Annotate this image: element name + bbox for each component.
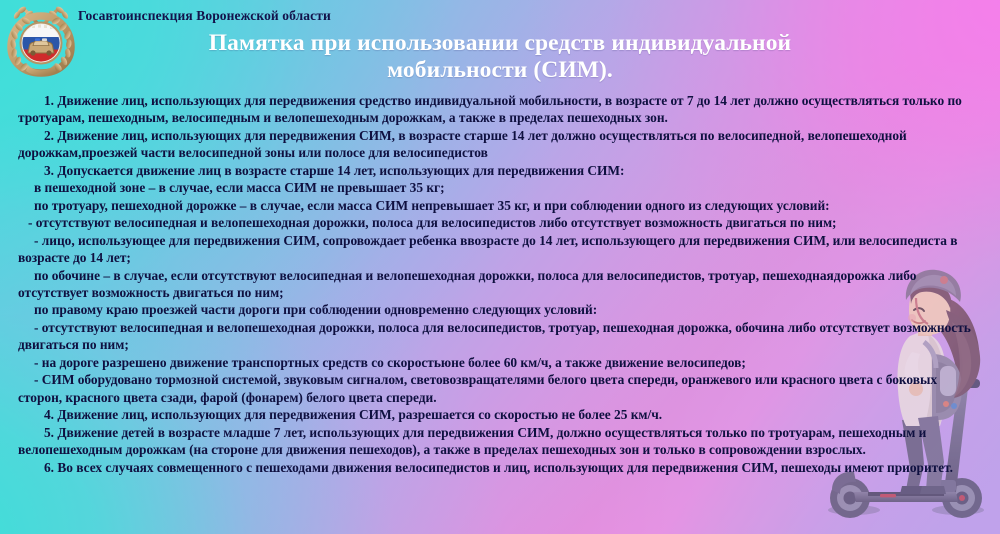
body-paragraph: 1. Движение лиц, использующих для передв…: [18, 92, 982, 127]
body-paragraph: - на дороге разрешено движение транспорт…: [18, 354, 982, 371]
body-paragraph: 2. Движение лиц, использующих для передв…: [18, 127, 982, 162]
body-paragraph: 6. Во всех случаях совмещенного с пешехо…: [18, 459, 982, 476]
body-paragraph: - лицо, использующее для передвижения СИ…: [18, 232, 982, 267]
poster-canvas: Госавтоинспекция Воронежской области Пам…: [0, 0, 1000, 534]
body-paragraph: - СИМ оборудовано тормозной системой, зв…: [18, 371, 982, 406]
body-paragraph: 4. Движение лиц, использующих для передв…: [18, 406, 982, 423]
body-paragraph: - отсутствуют велосипедная и велопешеход…: [18, 319, 982, 354]
body-paragraph: по тротуару, пешеходной дорожке – в случ…: [18, 197, 982, 214]
body-paragraph: по обочине – в случае, если отсутствуют …: [18, 267, 982, 302]
body-text: 1. Движение лиц, использующих для передв…: [18, 92, 982, 476]
page-title-line-2: мобильности (СИМ).: [120, 57, 880, 84]
body-paragraph: 3. Допускается движение лиц в возрасте с…: [18, 162, 982, 179]
organization-title: Госавтоинспекция Воронежской области: [78, 8, 331, 24]
body-paragraph: по правому краю проезжей части дороги пр…: [18, 301, 982, 318]
body-paragraph: - отсутствуют велосипедная и велопешеход…: [18, 214, 982, 231]
page-title-line-1: Памятка при использовании средств индиви…: [120, 30, 880, 57]
body-paragraph: 5. Движение детей в возрасте младше 7 ле…: [18, 424, 982, 459]
page-title: Памятка при использовании средств индиви…: [120, 30, 880, 84]
body-paragraph: в пешеходной зоне – в случае, если масса…: [18, 179, 982, 196]
gibdd-emblem-icon: [6, 5, 76, 77]
